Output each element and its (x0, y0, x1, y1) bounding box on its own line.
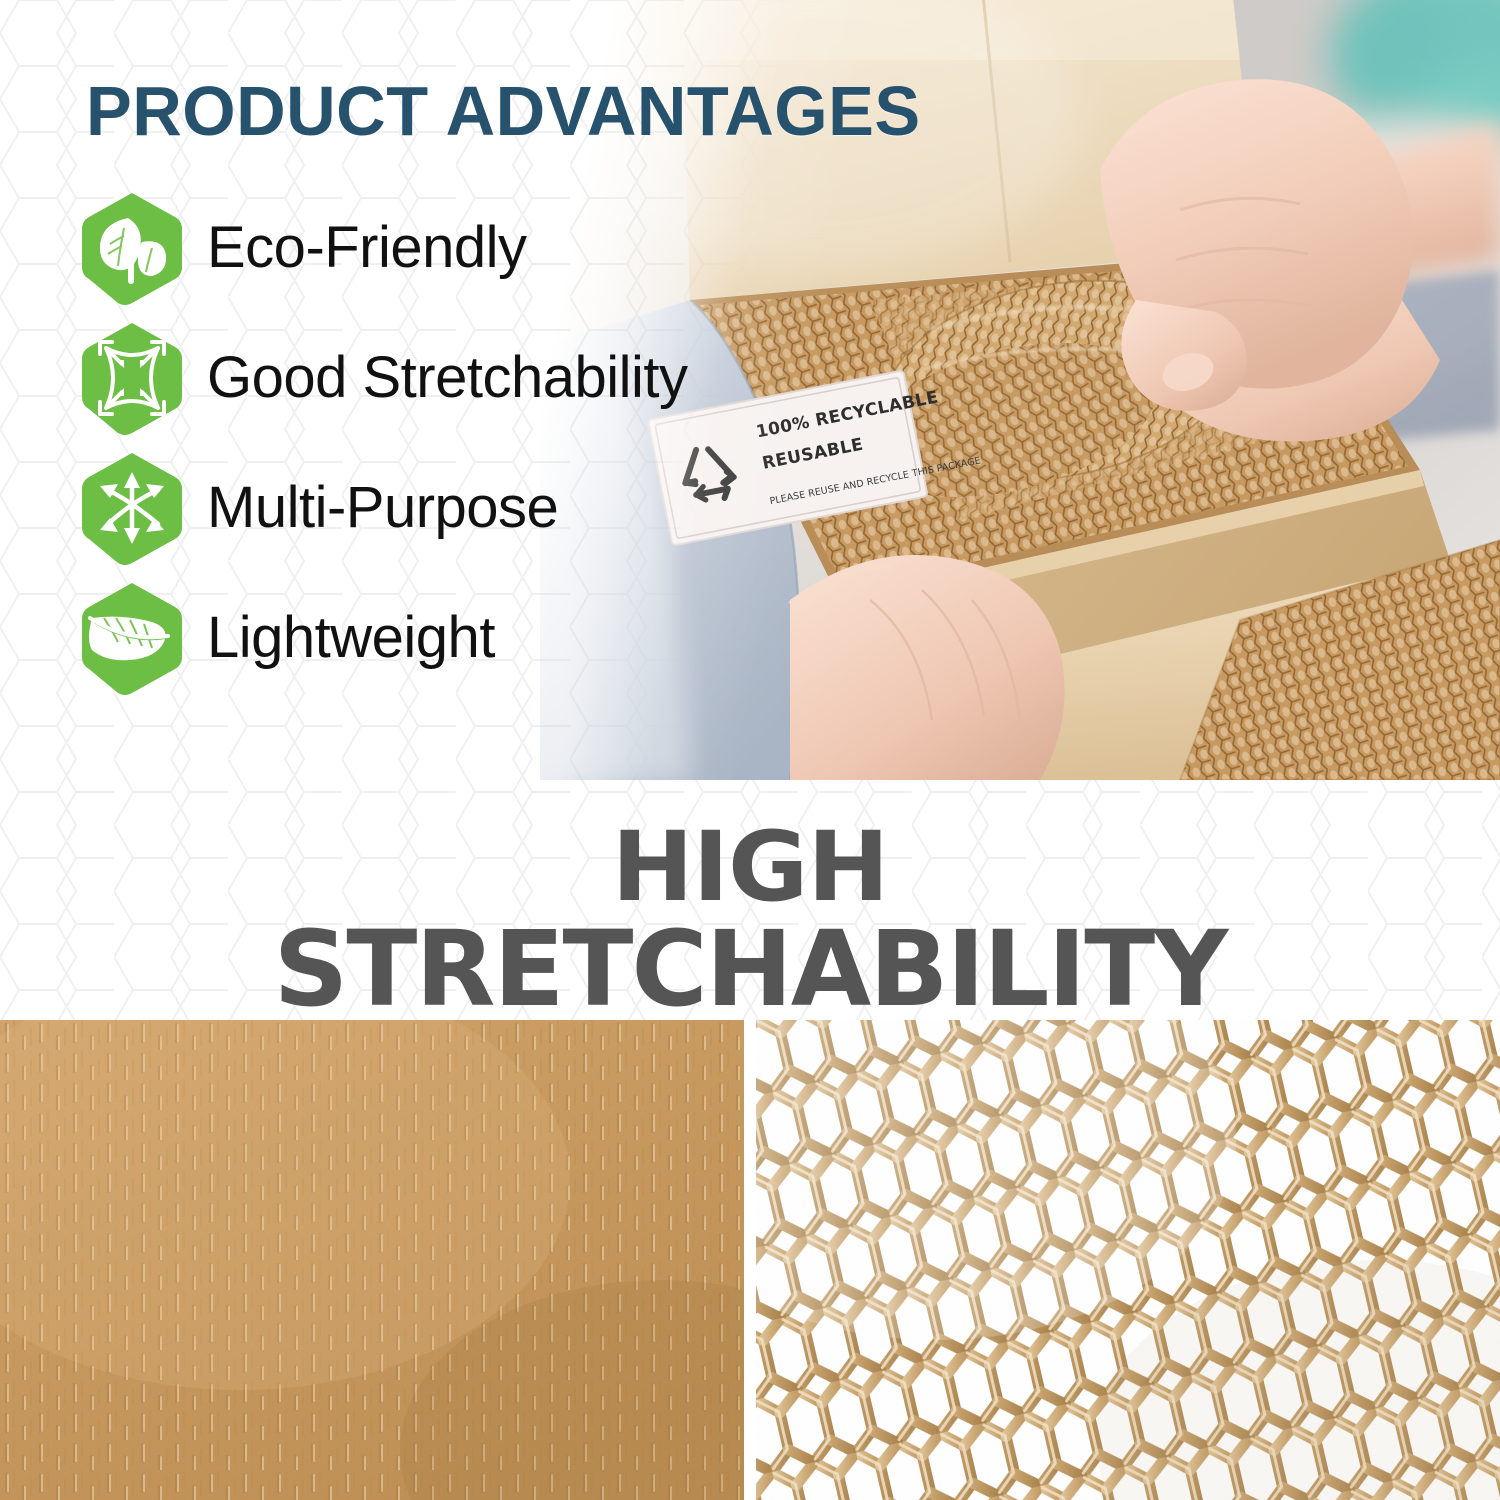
unstretched-honeycomb-panel (0, 1020, 744, 1500)
feature-item-eco-friendly: Eco-Friendly (78, 183, 838, 313)
stretched-honeycomb-panel (756, 1020, 1500, 1500)
page-title: PRODUCT ADVANTAGES (86, 74, 921, 148)
feature-label: Good Stretchability (207, 347, 688, 409)
feature-item-lightweight: Lightweight (78, 573, 838, 703)
stretchability-banner: HIGH STRETCHABILITY (0, 780, 1500, 1020)
feature-label: Multi-Purpose (207, 477, 558, 539)
comparison-panels (0, 1020, 1500, 1500)
product-advantages-infographic: 100% RECYCLABLE REUSABLE PLEASE REUSE AN… (0, 0, 1500, 1500)
feature-item-multi-purpose: Multi-Purpose (78, 443, 838, 573)
top-section: 100% RECYCLABLE REUSABLE PLEASE REUSE AN… (0, 0, 1500, 780)
banner-title-line-2: STRETCHABILITY (0, 918, 1500, 1020)
feature-label: Lightweight (207, 607, 495, 669)
banner-title: HIGH STRETCHABILITY (0, 816, 1500, 1020)
banner-title-line-1: HIGH (0, 816, 1500, 918)
feature-list: Eco-Friendly (78, 183, 838, 703)
feature-label: Eco-Friendly (207, 217, 527, 279)
feature-item-good-stretchability: Good Stretchability (78, 313, 838, 443)
stretch-arrows-icon (78, 320, 186, 436)
feather-icon (78, 580, 186, 696)
multi-direction-arrows-icon (78, 450, 186, 566)
leaf-icon (78, 190, 186, 306)
